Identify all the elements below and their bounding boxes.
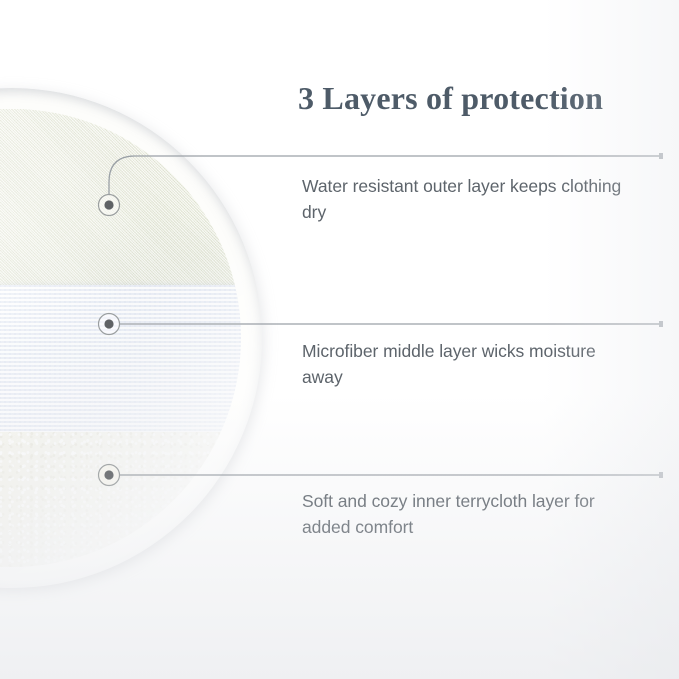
page-title: 3 Layers of protection bbox=[298, 80, 603, 117]
callout-text-outer: Water resistant outer layer keeps clothi… bbox=[302, 174, 632, 225]
callout-marker-outer[interactable] bbox=[99, 195, 120, 216]
callout-text-middle: Microfiber middle layer wicks moisture a… bbox=[302, 339, 632, 390]
leader-cap-middle bbox=[659, 321, 663, 327]
leader-cap-inner bbox=[659, 472, 663, 478]
product-infographic: 3 Layers of protection Water resistant o… bbox=[0, 0, 679, 679]
callout-text-inner: Soft and cozy inner terrycloth layer for… bbox=[302, 489, 632, 540]
callout-marker-inner[interactable] bbox=[99, 465, 120, 486]
leader-cap-outer bbox=[659, 153, 663, 159]
callout-marker-middle[interactable] bbox=[99, 314, 120, 335]
